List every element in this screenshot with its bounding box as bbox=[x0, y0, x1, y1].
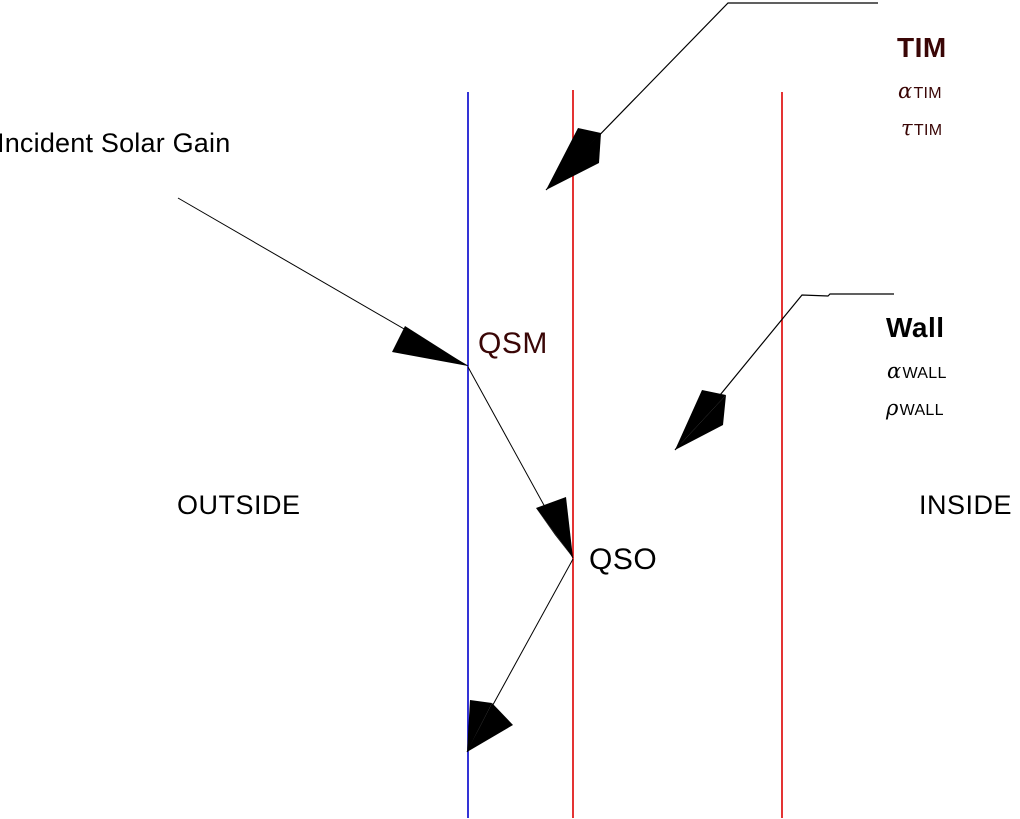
diagram-canvas: Incident Solar Gain QSM QSO OUTSIDE INSI… bbox=[0, 0, 1020, 819]
tim-absorptance-label: αTIM bbox=[898, 81, 942, 102]
tim-leader-arrow bbox=[546, 3, 878, 190]
tim-transmittance-label: τTIM bbox=[901, 118, 942, 139]
qso-reflected-arrow bbox=[467, 559, 573, 752]
diagram-graphics bbox=[0, 0, 1020, 819]
wall-absorptance-label: αWALL bbox=[887, 361, 947, 382]
layer-lines bbox=[468, 90, 782, 818]
tim-subscript: TIM bbox=[914, 122, 942, 139]
qsm-to-qso-arrow bbox=[468, 367, 573, 558]
alpha-symbol: α bbox=[887, 359, 902, 383]
inside-region-label: INSIDE bbox=[919, 492, 1012, 519]
wall-leader-arrow bbox=[675, 294, 894, 450]
incident-solar-gain-arrow bbox=[178, 198, 468, 366]
wall-title-label: Wall bbox=[886, 314, 945, 342]
wall-subscript: WALL bbox=[902, 365, 946, 382]
outside-region-label: OUTSIDE bbox=[177, 492, 301, 519]
tau-symbol: τ bbox=[901, 116, 914, 140]
tim-title-label: TIM bbox=[897, 34, 947, 62]
wall-subscript: WALL bbox=[900, 402, 944, 419]
wall-reflectance-label: ρWALL bbox=[886, 398, 944, 419]
tim-subscript: TIM bbox=[913, 85, 941, 102]
rho-symbol: ρ bbox=[886, 396, 900, 420]
qsm-label: QSM bbox=[478, 329, 548, 359]
qso-label: QSO bbox=[589, 545, 657, 575]
incident-solar-gain-label: Incident Solar Gain bbox=[0, 130, 230, 157]
alpha-symbol: α bbox=[898, 79, 913, 103]
